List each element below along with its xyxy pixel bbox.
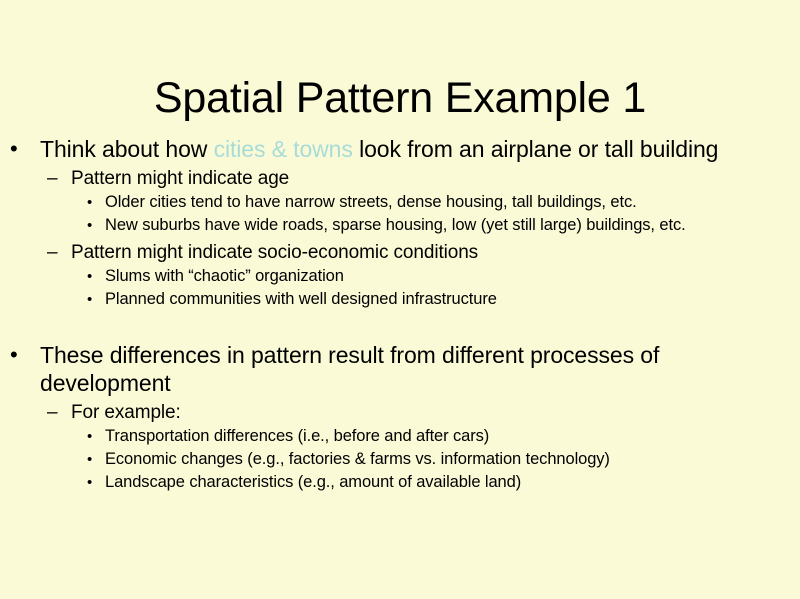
bullet-marker-level2: –: [47, 400, 71, 425]
bullet-level1-text: These differences in pattern result from…: [40, 341, 740, 397]
bullet-level1-text: Think about how cities & towns look from…: [40, 135, 740, 163]
bullet-level3-text: Transportation differences (i.e., before…: [105, 425, 785, 447]
bullet-level2-text: Pattern might indicate age: [71, 166, 731, 191]
presentation-slide: Spatial Pattern Example 1 • Think about …: [0, 0, 800, 599]
bullet-level3-new-suburbs: • New suburbs have wide roads, sparse ho…: [0, 214, 800, 237]
bullet-level2-for-example: – For example:: [0, 400, 800, 425]
bullet-level2-text: Pattern might indicate socio-economic co…: [71, 240, 731, 265]
bullet-marker-level3: •: [87, 191, 105, 214]
bullet-level3-text: Older cities tend to have narrow streets…: [105, 191, 785, 213]
bullet-level3-landscape-characteristics: • Landscape characteristics (e.g., amoun…: [0, 471, 800, 494]
bullet-marker-level3: •: [87, 448, 105, 471]
bullet-marker-level3: •: [87, 214, 105, 237]
lead-text-post: look from an airplane or tall building: [353, 136, 719, 162]
bullet-level3-text: Planned communities with well designed i…: [105, 288, 785, 310]
bullet-marker-level3: •: [87, 288, 105, 311]
bullet-level3-text: Landscape characteristics (e.g., amount …: [105, 471, 785, 493]
bullet-level3-text: New suburbs have wide roads, sparse hous…: [105, 214, 785, 236]
bullet-level2-pattern-socioeconomic: – Pattern might indicate socio-economic …: [0, 240, 800, 265]
bullet-marker-level1: •: [10, 341, 40, 369]
bullet-level3-transportation: • Transportation differences (i.e., befo…: [0, 425, 800, 448]
bullet-marker-level1: •: [10, 135, 40, 163]
bullet-marker-level3: •: [87, 265, 105, 288]
bullet-level3-older-cities: • Older cities tend to have narrow stree…: [0, 191, 800, 214]
slide-body: • Think about how cities & towns look fr…: [0, 135, 800, 494]
bullet-level2-text: For example:: [71, 400, 731, 425]
highlighted-phrase-cities-towns: cities & towns: [214, 136, 353, 162]
bullet-level3-slums: • Slums with “chaotic” organization: [0, 265, 800, 288]
bullet-level3-economic-changes: • Economic changes (e.g., factories & fa…: [0, 448, 800, 471]
bullet-marker-level3: •: [87, 425, 105, 448]
lead-text-pre: Think about how: [40, 136, 214, 162]
page-title: Spatial Pattern Example 1: [0, 73, 800, 123]
bullet-level1-these-differences: • These differences in pattern result fr…: [0, 341, 800, 397]
bullet-marker-level2: –: [47, 240, 71, 265]
bullet-marker-level3: •: [87, 471, 105, 494]
bullet-level3-planned-communities: • Planned communities with well designed…: [0, 288, 800, 311]
bullet-level1-think-about: • Think about how cities & towns look fr…: [0, 135, 800, 163]
bullet-level3-text: Economic changes (e.g., factories & farm…: [105, 448, 785, 470]
bullet-marker-level2: –: [47, 166, 71, 191]
bullet-level3-text: Slums with “chaotic” organization: [105, 265, 785, 287]
bullet-level2-pattern-age: – Pattern might indicate age: [0, 166, 800, 191]
block-spacer: [0, 311, 800, 341]
